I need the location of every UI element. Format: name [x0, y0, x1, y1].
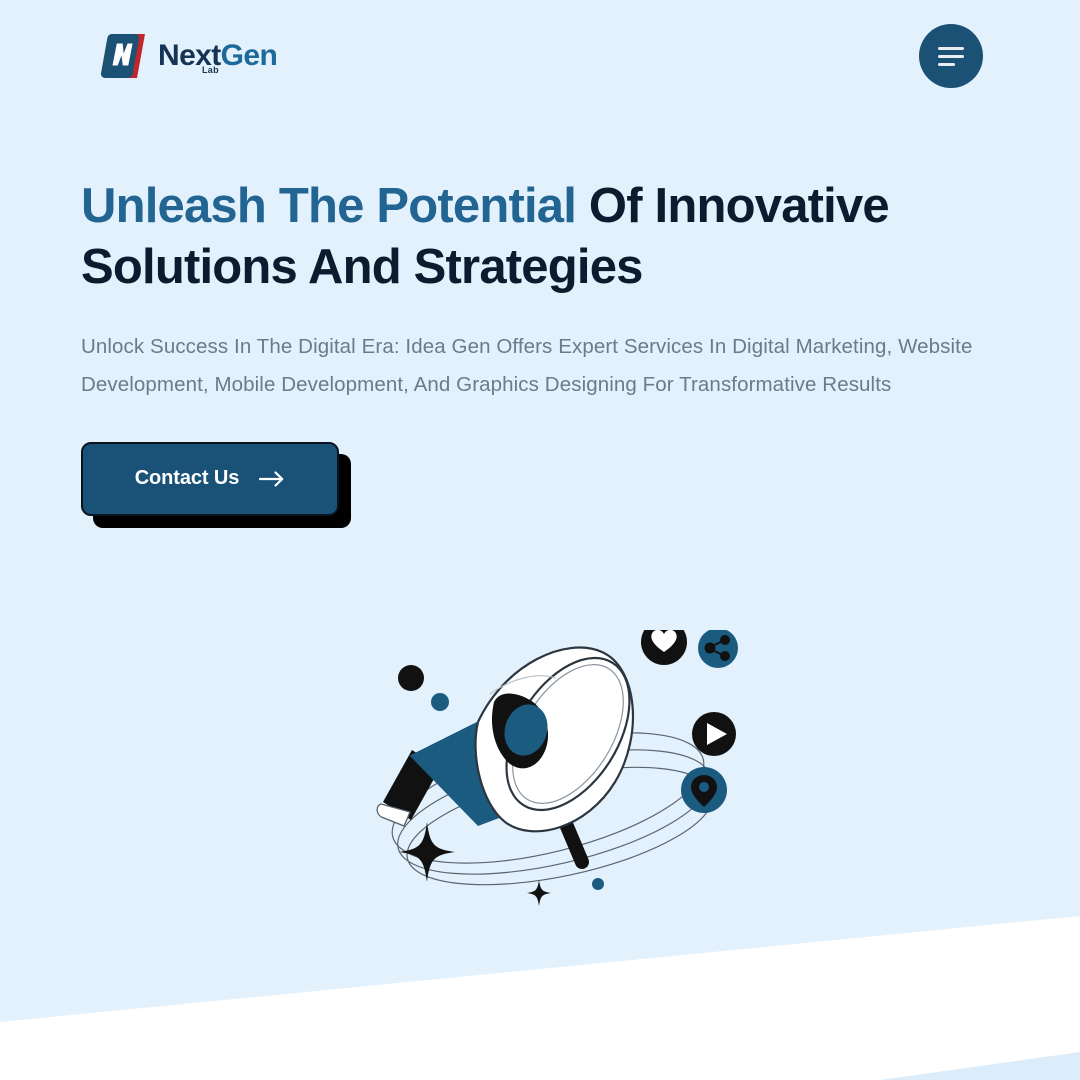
dot-black — [398, 665, 424, 691]
page-title-accent: Unleash The Potential — [81, 179, 576, 233]
hero-page: NextGen Lab Unleash The Potential Of Inn… — [0, 0, 1080, 1080]
brand-subtitle: Lab — [202, 66, 219, 75]
contact-us-label: Contact Us — [135, 467, 240, 490]
social-icon-heart — [641, 630, 687, 665]
share-icon-circle — [698, 630, 738, 668]
nextgen-lightning-mark-icon — [99, 31, 151, 81]
megaphone-marketing-illustration — [370, 630, 770, 930]
page-title: Unleash The Potential Of Innovative Solu… — [81, 176, 1041, 298]
dot-blue-small — [592, 878, 604, 890]
star-small — [527, 880, 551, 906]
hamburger-bar-middle — [938, 55, 964, 58]
hamburger-bar-bottom — [938, 63, 955, 66]
dot-blue — [431, 693, 449, 711]
hamburger-menu-icon — [938, 47, 964, 50]
hamburger-menu-button[interactable] — [919, 24, 983, 88]
social-icon-location — [681, 767, 727, 813]
social-icon-share — [698, 630, 738, 668]
social-icon-play — [692, 712, 736, 756]
brand-word-secondary: Gen — [221, 39, 278, 72]
bottom-wave-blue-sliver — [880, 1000, 1080, 1080]
brand-wordmark: NextGen Lab — [158, 41, 277, 71]
cta-container: Contact Us — [81, 442, 351, 528]
brand-logo[interactable]: NextGen Lab — [99, 31, 277, 81]
arrow-right-icon — [259, 470, 285, 488]
hero-subtitle: Unlock Success In The Digital Era: Idea … — [81, 328, 1041, 404]
contact-us-button[interactable]: Contact Us — [81, 442, 339, 516]
site-header: NextGen Lab — [0, 0, 1080, 112]
